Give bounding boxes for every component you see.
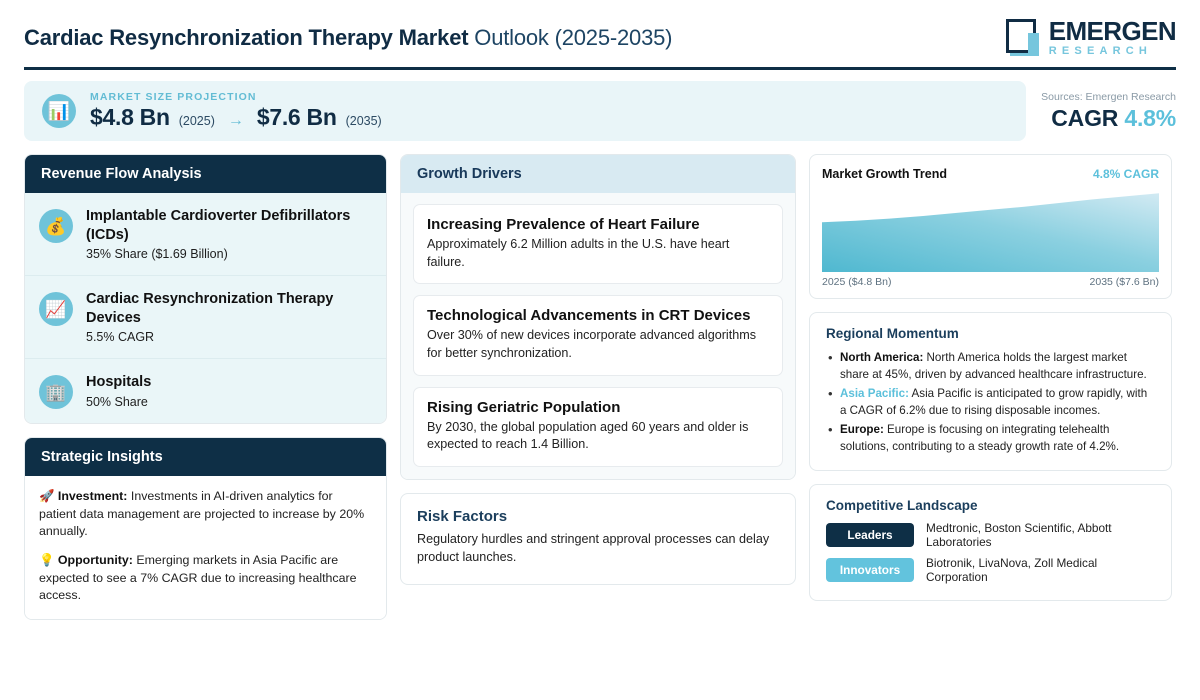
right-column: Market Growth Trend 4.8% CAGR 2025 ($4.8 — [809, 154, 1172, 601]
market-size-values: $4.8 Bn (2025) → $7.6 Bn (2035) — [90, 104, 382, 131]
cagr-label: CAGR — [1051, 105, 1118, 131]
competitive-landscape-card: Competitive Landscape Leaders Medtronic,… — [809, 484, 1172, 601]
chart-axis-labels: 2025 ($4.8 Bn) 2035 ($7.6 Bn) — [822, 276, 1159, 290]
list-item: 💰 Implantable Cardioverter Defibrillator… — [25, 193, 386, 276]
cagr-summary: Sources: Emergen Research CAGR 4.8% — [1026, 91, 1176, 132]
hospital-icon: 🏢 — [39, 375, 73, 409]
chart-tick-start: 2025 ($4.8 Bn) — [822, 276, 891, 288]
logo-subtitle: RESEARCH — [1049, 46, 1176, 57]
lightbulb-icon: 💡 — [39, 553, 54, 567]
strategic-insights-body: 🚀 Investment: Investments in AI-driven a… — [25, 476, 386, 619]
market-growth-trend-card: Market Growth Trend 4.8% CAGR 2025 ($4.8 — [809, 154, 1172, 299]
content-columns: Revenue Flow Analysis 💰 Implantable Card… — [24, 154, 1176, 620]
regional-momentum-card: Regional Momentum North America: North A… — [809, 312, 1172, 471]
header-divider — [24, 67, 1176, 70]
region-label: North America: — [840, 351, 923, 364]
market-size-banner-row: 📊 MARKET SIZE PROJECTION $4.8 Bn (2025) … — [24, 81, 1176, 141]
market-year-end: (2035) — [346, 114, 382, 128]
insight-label: Investment: — [58, 489, 128, 503]
growth-drivers-title: Growth Drivers — [401, 155, 795, 193]
risk-factors-card: Risk Factors Regulatory hurdles and stri… — [400, 493, 796, 585]
market-value-start: $4.8 Bn — [90, 104, 170, 131]
competitive-row-innovators: Innovators Biotronik, LivaNova, Zoll Med… — [826, 556, 1155, 584]
status-badge: Innovators — [826, 558, 914, 582]
cagr-value: 4.8% — [1124, 105, 1176, 131]
market-value-end: $7.6 Bn — [257, 104, 337, 131]
revenue-flow-title: Revenue Flow Analysis — [25, 155, 386, 193]
insight-opportunity: 💡 Opportunity: Emerging markets in Asia … — [39, 552, 372, 605]
competitive-landscape-title: Competitive Landscape — [826, 498, 1155, 513]
infographic-page: Cardiac Resynchronization Therapy Market… — [0, 0, 1200, 700]
chart-increasing-icon: 📈 — [39, 292, 73, 326]
cagr-headline: CAGR 4.8% — [1038, 105, 1176, 132]
page-title: Cardiac Resynchronization Therapy Market… — [24, 25, 672, 50]
list-item: 🏢 Hospitals 50% Share — [25, 359, 386, 423]
risk-factors-text: Regulatory hurdles and stringent approva… — [417, 531, 779, 567]
list-item: Asia Pacific: Asia Pacific is anticipate… — [826, 385, 1155, 420]
list-item-text: Cardiac Resynchronization Therapy Device… — [86, 290, 370, 344]
list-item: Europe: Europe is focusing on integratin… — [826, 421, 1155, 456]
regional-momentum-title: Regional Momentum — [826, 326, 1155, 341]
region-label: Asia Pacific: — [840, 387, 909, 400]
chart-header: Market Growth Trend 4.8% CAGR — [822, 167, 1159, 181]
list-item-name: Implantable Cardioverter Defibrillators … — [86, 207, 370, 244]
chart-cagr-annotation: 4.8% CAGR — [1093, 167, 1159, 181]
status-badge: Leaders — [826, 523, 914, 547]
rocket-icon: 🚀 — [39, 489, 54, 503]
list-item-text: Implantable Cardioverter Defibrillators … — [86, 207, 370, 261]
logo-name: EMERGEN — [1049, 18, 1176, 44]
chart-tick-end: 2035 ($7.6 Bn) — [1090, 276, 1159, 288]
growth-driver-card: Technological Advancements in CRT Device… — [413, 295, 783, 375]
left-column: Revenue Flow Analysis 💰 Implantable Card… — [24, 154, 387, 620]
logo-wordmark: EMERGEN RESEARCH — [1049, 18, 1176, 57]
market-size-label: MARKET SIZE PROJECTION — [90, 91, 382, 103]
page-title-light: Outlook (2025-2035) — [474, 25, 672, 50]
sources-label: Sources: Emergen Research — [1038, 91, 1176, 103]
list-item-detail: 5.5% CAGR — [86, 330, 370, 344]
market-growth-area-chart — [822, 187, 1159, 272]
growth-driver-title: Technological Advancements in CRT Device… — [427, 307, 769, 324]
strategic-insights-title: Strategic Insights — [25, 438, 386, 476]
market-year-start: (2025) — [179, 114, 215, 128]
chart-area-path — [822, 193, 1159, 272]
growth-driver-card: Rising Geriatric Population By 2030, the… — [413, 387, 783, 467]
revenue-flow-list: 💰 Implantable Cardioverter Defibrillator… — [25, 193, 386, 423]
list-item-detail: 50% Share — [86, 395, 151, 409]
regional-momentum-list: North America: North America holds the l… — [826, 349, 1155, 455]
page-header: Cardiac Resynchronization Therapy Market… — [24, 0, 1176, 65]
growth-driver-text: By 2030, the global population aged 60 y… — [427, 419, 769, 454]
region-label: Europe: — [840, 423, 884, 436]
list-item-name: Cardiac Resynchronization Therapy Device… — [86, 290, 370, 327]
middle-column: Growth Drivers Increasing Prevalence of … — [400, 154, 796, 585]
growth-driver-title: Increasing Prevalence of Heart Failure — [427, 216, 769, 233]
chart-title: Market Growth Trend — [822, 167, 947, 181]
growth-driver-card: Increasing Prevalence of Heart Failure A… — [413, 204, 783, 284]
strategic-insights-panel: Strategic Insights 🚀 Investment: Investm… — [24, 437, 387, 620]
list-item-text: Hospitals 50% Share — [86, 373, 151, 409]
list-item: 📈 Cardiac Resynchronization Therapy Devi… — [25, 276, 386, 359]
market-size-banner: 📊 MARKET SIZE PROJECTION $4.8 Bn (2025) … — [24, 81, 1026, 141]
page-title-strong: Cardiac Resynchronization Therapy Market — [24, 25, 468, 50]
growth-driver-title: Rising Geriatric Population — [427, 399, 769, 416]
growth-drivers-panel: Growth Drivers Increasing Prevalence of … — [400, 154, 796, 480]
market-size-content: MARKET SIZE PROJECTION $4.8 Bn (2025) → … — [90, 91, 382, 131]
competitor-names: Medtronic, Boston Scientific, Abbott Lab… — [926, 521, 1155, 549]
bar-chart-icon: 📊 — [42, 94, 76, 128]
emergen-research-logo: EMERGEN RESEARCH — [1006, 18, 1176, 57]
list-item-name: Hospitals — [86, 373, 151, 392]
list-item: North America: North America holds the l… — [826, 349, 1155, 384]
logo-square-icon — [1006, 19, 1040, 57]
competitive-row-leaders: Leaders Medtronic, Boston Scientific, Ab… — [826, 521, 1155, 549]
list-item-detail: 35% Share ($1.69 Billion) — [86, 247, 370, 261]
insight-label: Opportunity: — [58, 553, 133, 567]
growth-drivers-list: Increasing Prevalence of Heart Failure A… — [401, 193, 795, 479]
revenue-flow-panel: Revenue Flow Analysis 💰 Implantable Card… — [24, 154, 387, 424]
arrow-right-icon: → — [228, 112, 244, 130]
growth-driver-text: Over 30% of new devices incorporate adva… — [427, 327, 769, 362]
risk-factors-title: Risk Factors — [417, 508, 779, 525]
growth-driver-text: Approximately 6.2 Million adults in the … — [427, 236, 769, 271]
competitor-names: Biotronik, LivaNova, Zoll Medical Corpor… — [926, 556, 1155, 584]
money-bag-icon: 💰 — [39, 209, 73, 243]
insight-investment: 🚀 Investment: Investments in AI-driven a… — [39, 488, 372, 541]
